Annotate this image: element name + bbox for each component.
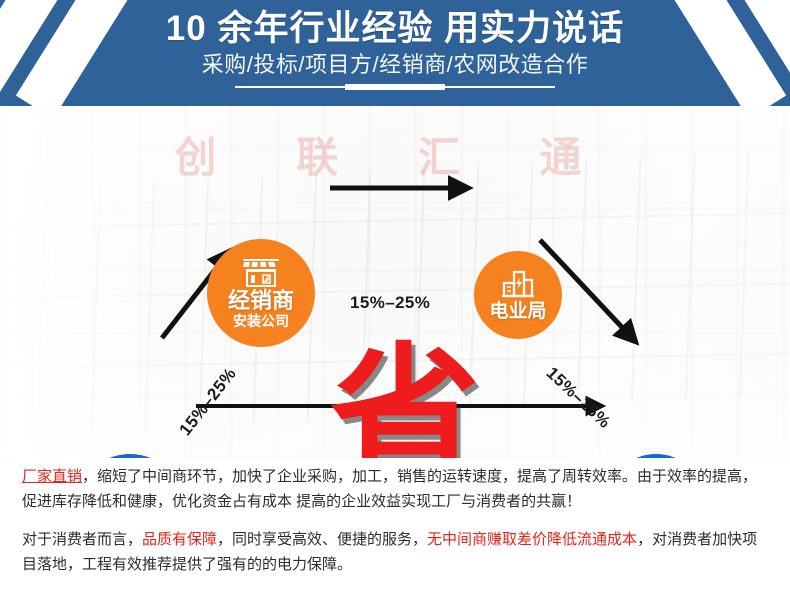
node-power-bureau-label: 电业局	[489, 301, 546, 322]
store-icon	[241, 256, 281, 288]
promo-infographic: 10 余年行业经验 用实力说话 采购/投标/项目方/经销商/农网改造合作 创 联…	[0, 0, 790, 602]
copy-paragraph-2: 对于消费者而言，品质有保障，同时享受高效、便捷的服务，无中间商赚取差价降低流通成…	[22, 527, 768, 577]
header-banner: 10 余年行业经验 用实力说话 采购/投标/项目方/经销商/农网改造合作	[0, 0, 790, 106]
banner-title: 10 余年行业经验 用实力说话	[166, 7, 624, 50]
copy-highlight-quality: 品质有保障	[142, 531, 217, 548]
brand-watermark: 创 联 汇 通	[0, 124, 790, 185]
copy-paragraph-1: 厂家直销，缩短了中间商环节，加快了企业采购，加工，销售的运转速度，提高了周转效率…	[22, 464, 768, 514]
banner-divider	[235, 84, 555, 89]
power-plant-icon	[500, 269, 536, 299]
banner-subtitle: 采购/投标/项目方/经销商/农网改造合作	[202, 50, 588, 80]
node-power-bureau[interactable]: 电业局	[474, 251, 562, 339]
marketing-copy: 厂家直销，缩短了中间商环节，加快了企业采购，加工，销售的运转速度，提高了周转效率…	[0, 458, 790, 602]
copy-highlight-no-middleman: 无中间商赚取差价降低流通成本	[427, 531, 637, 548]
center-highlight-character: 省	[330, 341, 480, 458]
node-dealer[interactable]: 经销商 安装公司	[207, 239, 315, 347]
copy-paragraph-2-b: ，同时享受高效、便捷的服务，	[217, 531, 427, 548]
node-dealer-sublabel: 安装公司	[233, 313, 289, 330]
copy-paragraph-2-a: 对于消费者而言，	[22, 531, 142, 548]
node-dealer-label: 经销商	[228, 289, 294, 313]
copy-paragraph-1-rest: ，缩短了中间商环节，加快了企业采购，加工，销售的运转速度，提高了周转效率。由于效…	[22, 468, 757, 510]
arrow-label-dealer-to-power: 15%–25%	[350, 293, 430, 313]
copy-highlight-direct-sales: 厂家直销	[22, 468, 82, 485]
diagram-stage: 创 联 汇 通 15%–25% 15%–25% 15%–25% 在这里省了中间环…	[0, 106, 790, 458]
